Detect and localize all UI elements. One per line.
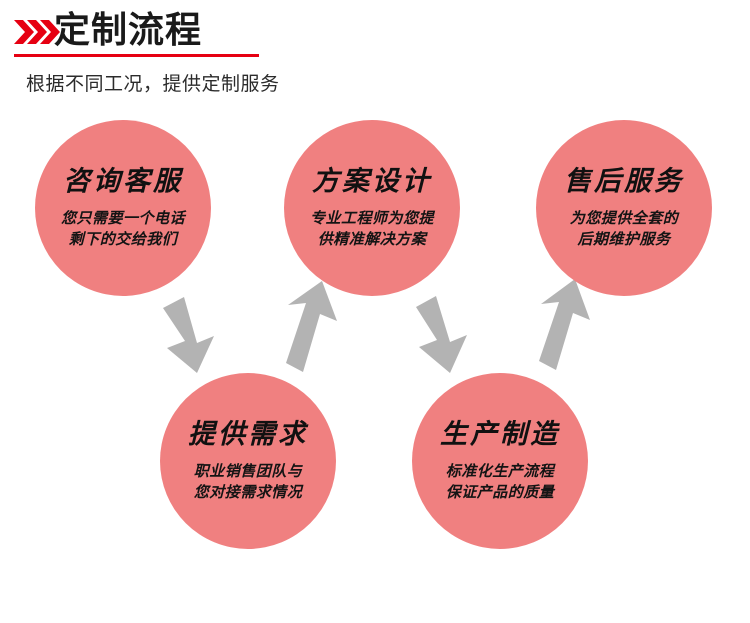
flow-node-desc-line: 剩下的交给我们 — [69, 229, 178, 250]
page-title: 定制流程 — [54, 9, 202, 53]
flow-node-provide-requirement[interactable]: 提供需求 职业销售团队与 您对接需求情况 — [160, 373, 336, 549]
flow-arrow-up-right-2 — [286, 281, 337, 372]
flow-node-consult-service[interactable]: 咨询客服 您只需要一个电话 剩下的交给我们 — [35, 120, 211, 296]
flow-node-desc-line: 标准化生产流程 — [446, 461, 555, 482]
flow-arrow-down-right-3 — [416, 296, 467, 373]
flow-node-desc-line: 专业工程师为您提 — [310, 208, 434, 229]
flow-node-desc-line: 供精准解决方案 — [318, 229, 427, 250]
page-header: 定制流程 根据不同工况，提供定制服务 — [0, 0, 750, 110]
flow-arrow-up-right-4 — [539, 279, 590, 370]
flow-node-desc-line: 您对接需求情况 — [194, 482, 303, 503]
flow-node-desc-line: 保证产品的质量 — [446, 482, 555, 503]
flow-node-title: 提供需求 — [188, 419, 308, 451]
flow-node-title: 咨询客服 — [63, 166, 183, 198]
title-underline-divider — [14, 54, 259, 57]
flow-node-desc-line: 为您提供全套的 — [570, 208, 679, 229]
flow-node-desc-line: 后期维护服务 — [577, 229, 670, 250]
flow-node-production-manufacturing[interactable]: 生产制造 标准化生产流程 保证产品的质量 — [412, 373, 588, 549]
process-flow-diagram: 咨询客服 您只需要一个电话 剩下的交给我们 方案设计 专业工程师为您提 供精准解… — [0, 105, 750, 623]
flow-node-after-sales-service[interactable]: 售后服务 为您提供全套的 后期维护服务 — [536, 120, 712, 296]
flow-arrow-down-right-1 — [163, 297, 214, 373]
flow-node-desc-line: 您只需要一个电话 — [61, 208, 185, 229]
page-subtitle: 根据不同工况，提供定制服务 — [26, 71, 280, 97]
flow-node-title: 售后服务 — [564, 166, 684, 198]
flow-node-desc-line: 职业销售团队与 — [194, 461, 303, 482]
flow-node-scheme-design[interactable]: 方案设计 专业工程师为您提 供精准解决方案 — [284, 120, 460, 296]
flow-node-title: 方案设计 — [312, 166, 432, 198]
flow-node-title: 生产制造 — [440, 419, 560, 451]
